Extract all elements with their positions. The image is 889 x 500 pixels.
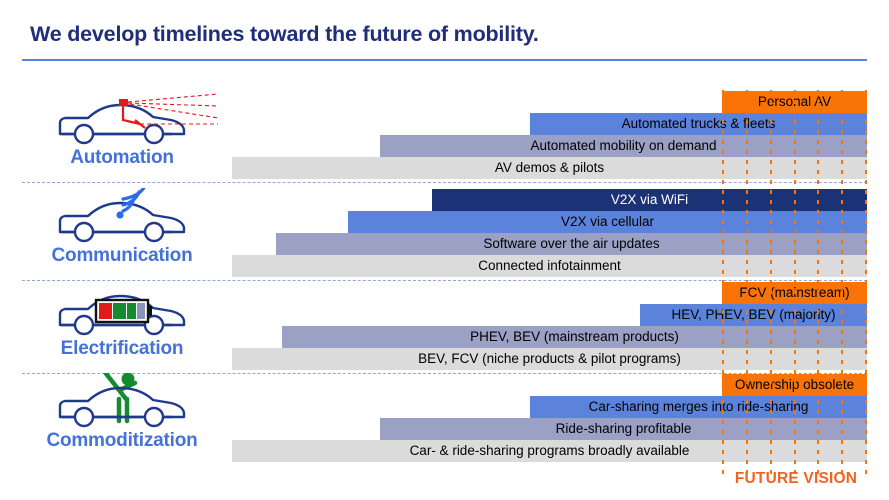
page-header: We develop timelines toward the future o… bbox=[0, 0, 889, 70]
timeline-bar[interactable]: AV demos & pilots bbox=[232, 157, 867, 179]
future-vision-label: FUTURE VISION bbox=[722, 470, 870, 488]
title-underline-rule bbox=[22, 59, 867, 61]
timeline-bar[interactable]: PHEV, BEV (mainstream products) bbox=[282, 326, 867, 348]
icon-label-block-commoditization: Commoditization bbox=[22, 373, 222, 450]
timeline-bar[interactable]: Ride-sharing profitable bbox=[380, 418, 867, 440]
icon-label-block-electrification: Electrification bbox=[22, 281, 222, 358]
section-electrification: ElectrificationFCV (mainstream)HEV, PHEV… bbox=[0, 281, 889, 377]
icon-label-block-automation: Automation bbox=[22, 90, 222, 167]
timeline-bar[interactable]: V2X via cellular bbox=[348, 211, 867, 233]
timeline-bar[interactable]: Software over the air updates bbox=[276, 233, 867, 255]
timeline-bar[interactable]: HEV, PHEV, BEV (majority) bbox=[640, 304, 867, 326]
timeline-bar[interactable]: V2X via WiFi bbox=[432, 189, 867, 211]
car-wifi-signal-icon bbox=[22, 188, 222, 246]
page-title: We develop timelines toward the future o… bbox=[30, 22, 539, 47]
timeline-bar[interactable]: Car- & ride-sharing programs broadly ava… bbox=[232, 440, 867, 462]
section-label-commoditization: Commoditization bbox=[22, 431, 222, 450]
timeline-bar[interactable]: Connected infotainment bbox=[232, 255, 867, 277]
section-label-communication: Communication bbox=[22, 246, 222, 265]
car-lidar-sensor-icon bbox=[22, 90, 222, 148]
section-label-automation: Automation bbox=[22, 148, 222, 167]
timeline-bar[interactable]: Automated trucks & fleets bbox=[530, 113, 867, 135]
section-commoditization: CommoditizationOwnership obsoleteCar-sha… bbox=[0, 373, 889, 469]
car-battery-icon bbox=[22, 281, 222, 339]
timeline-bar[interactable]: Personal AV bbox=[722, 91, 867, 113]
section-communication: CommunicationV2X via WiFiV2X via cellula… bbox=[0, 188, 889, 284]
timeline-bar[interactable]: Automated mobility on demand bbox=[380, 135, 867, 157]
timeline-bar[interactable]: BEV, FCV (niche products & pilot program… bbox=[232, 348, 867, 370]
section-automation: AutomationPersonal AVAutomated trucks & … bbox=[0, 90, 889, 186]
car-person-sharing-icon bbox=[22, 373, 222, 431]
timeline-bar[interactable]: FCV (mainstream) bbox=[722, 282, 867, 304]
icon-label-block-communication: Communication bbox=[22, 188, 222, 265]
timeline-bar[interactable]: Car-sharing merges into ride-sharing bbox=[530, 396, 867, 418]
section-label-electrification: Electrification bbox=[22, 339, 222, 358]
section-divider bbox=[22, 182, 867, 183]
timeline-bar[interactable]: Ownership obsolete bbox=[722, 374, 867, 396]
